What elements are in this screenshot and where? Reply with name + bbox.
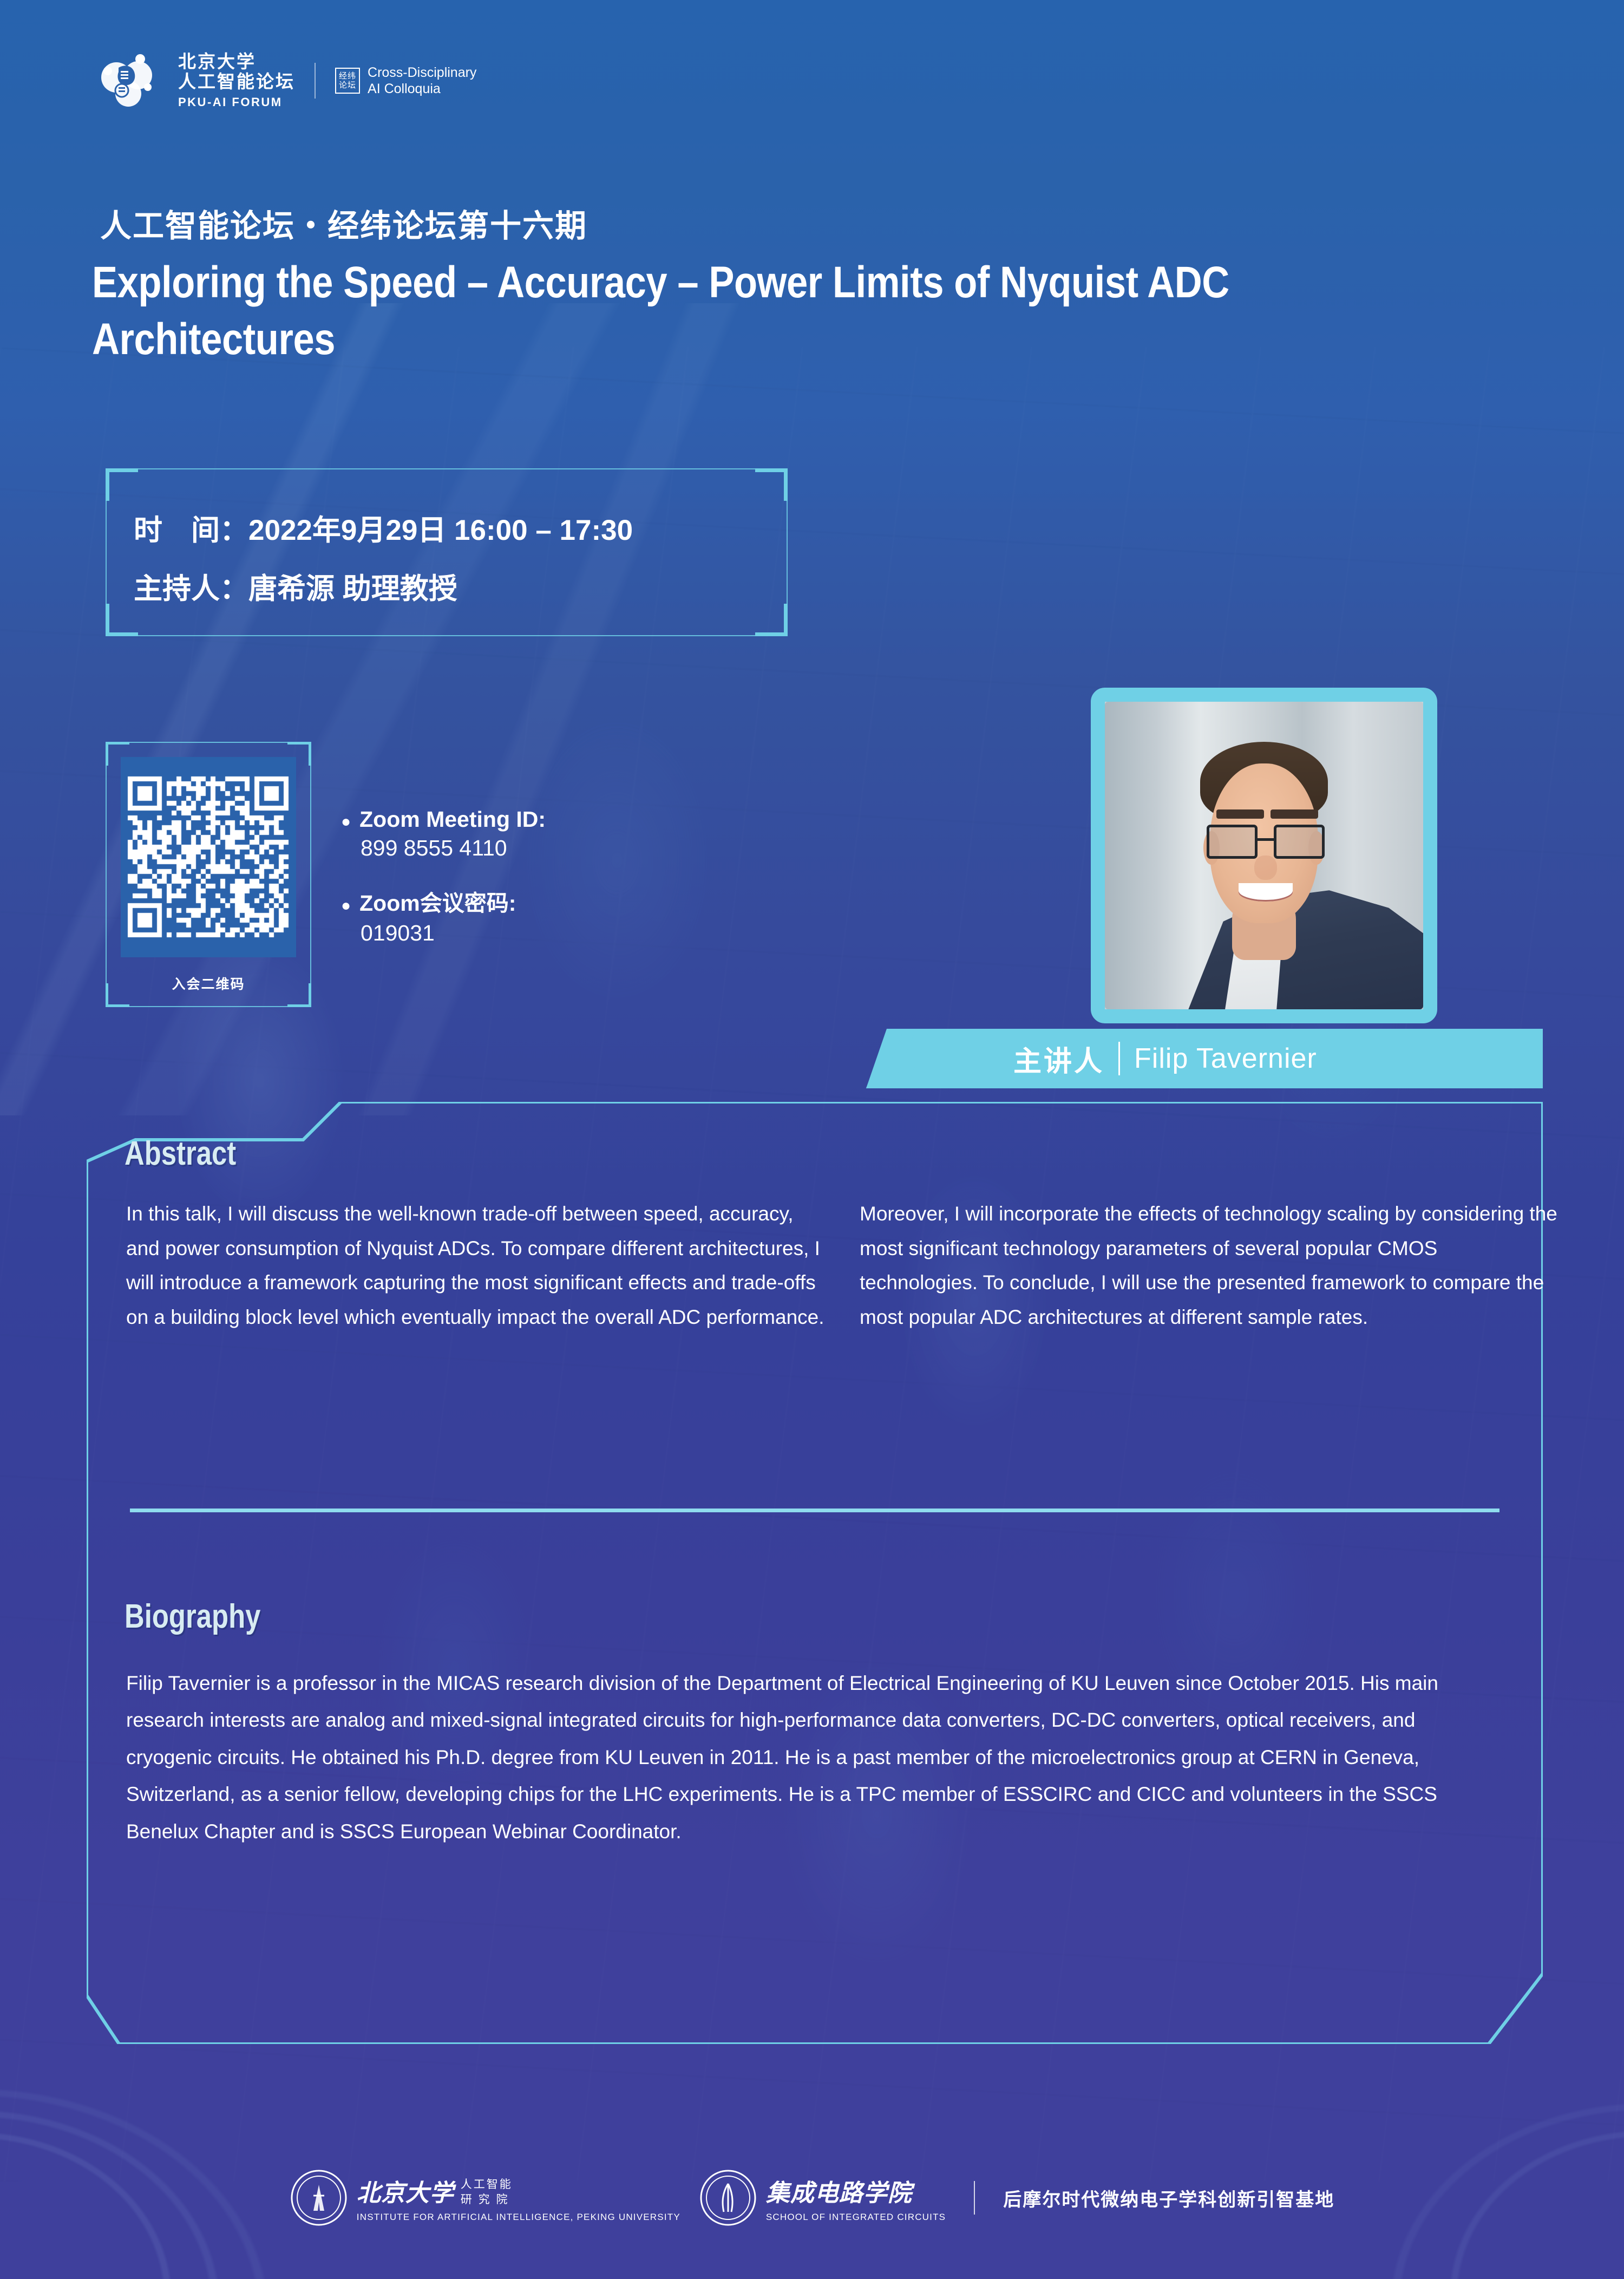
event-time-label: 时 间： bbox=[134, 514, 248, 546]
colloquia-en-line2: AI Colloquia bbox=[368, 81, 476, 97]
footer-org1-cn: 北京大学 bbox=[357, 2173, 454, 2208]
zoom-meeting-id-value: 899 8555 4110 bbox=[361, 835, 828, 861]
event-host-label: 主持人： bbox=[134, 573, 248, 605]
colloquia-cn-box: 经纬 论坛 bbox=[335, 68, 360, 94]
zoom-meeting-id-head: ● Zoom Meeting ID: bbox=[341, 807, 828, 832]
speaker-banner-divider bbox=[1118, 1042, 1120, 1075]
corner-bracket-bottom-left bbox=[106, 604, 138, 636]
speaker-portrait bbox=[1091, 688, 1437, 1023]
footer-logo-group: 北京大学 人工智能 研 究 院 INSTITUTE FOR ARTIFICIAL… bbox=[0, 2169, 1624, 2227]
zoom-passcode-item: ● Zoom会议密码: 019031 bbox=[341, 885, 828, 946]
bullet-icon: ● bbox=[341, 898, 351, 914]
colloquia-logo: 经纬 论坛 Cross-Disciplinary AI Colloquia bbox=[335, 64, 476, 97]
eyeglasses-icon bbox=[1207, 825, 1325, 858]
speaker-name: Filip Tavernier bbox=[1134, 1042, 1317, 1075]
speaker-name-banner: 主讲人 Filip Tavernier bbox=[866, 1029, 1543, 1088]
qr-code-icon[interactable] bbox=[121, 757, 296, 957]
corner-bracket-top-left bbox=[106, 468, 138, 501]
zoom-meeting-id-item: ● Zoom Meeting ID: 899 8555 4110 bbox=[341, 807, 828, 861]
corner-bracket-bottom-right bbox=[755, 604, 788, 636]
header-logo-group: 北京大学 人工智能论坛 PKU-AI FORUM 经纬 论坛 Cross-Dis… bbox=[100, 51, 476, 110]
info-box-edge-bottom bbox=[138, 635, 755, 636]
corner-bracket-top-right bbox=[755, 468, 788, 501]
pku-ai-forum-wordmark: 北京大学 人工智能论坛 PKU-AI FORUM bbox=[178, 52, 295, 109]
info-box-edge-left bbox=[106, 501, 107, 604]
org-cn-line2: 人工智能论坛 bbox=[178, 72, 295, 92]
peking-university-seal-icon bbox=[290, 2169, 348, 2227]
footer-org2-cn: 集成电路学院 bbox=[766, 2173, 946, 2208]
footer-divider bbox=[974, 2181, 975, 2215]
colloquia-cn-line1: 经纬 bbox=[339, 71, 356, 81]
speaker-role-label: 主讲人 bbox=[1013, 1039, 1104, 1079]
colloquia-en: Cross-Disciplinary AI Colloquia bbox=[368, 64, 476, 97]
zoom-meeting-info: ● Zoom Meeting ID: 899 8555 4110 ● Zoom会… bbox=[341, 807, 828, 970]
abstract-heading: Abstract bbox=[125, 1134, 236, 1173]
footer-org-2: 集成电路学院 SCHOOL OF INTEGRATED CIRCUITS bbox=[699, 2169, 946, 2227]
abstract-column-1: In this talk, I will discuss the well-kn… bbox=[126, 1197, 827, 1335]
qr-code-block[interactable]: 入会二维码 bbox=[106, 742, 311, 1007]
footer-org1-cn-sub1: 人工智能 bbox=[461, 2177, 513, 2192]
logo-divider bbox=[315, 63, 316, 99]
footer-org-1: 北京大学 人工智能 研 究 院 INSTITUTE FOR ARTIFICIAL… bbox=[290, 2169, 680, 2227]
event-time-row: 时 间：2022年9月29日 16:00 – 17:30 bbox=[134, 507, 633, 548]
colloquia-en-line1: Cross-Disciplinary bbox=[368, 64, 476, 81]
section-divider bbox=[130, 1509, 1499, 1512]
abstract-column-2: Moreover, I will incorporate the effects… bbox=[860, 1197, 1561, 1335]
footer-org1-en: INSTITUTE FOR ARTIFICIAL INTELLIGENCE, P… bbox=[357, 2212, 680, 2223]
bullet-icon: ● bbox=[341, 814, 351, 830]
peking-university-seal-icon bbox=[699, 2169, 757, 2227]
footer-org2-en: SCHOOL OF INTEGRATED CIRCUITS bbox=[766, 2212, 946, 2223]
event-time-value: 2022年9月29日 16:00 – 17:30 bbox=[248, 514, 633, 546]
talk-title: Exploring the Speed – Accuracy – Power L… bbox=[92, 254, 1284, 368]
zoom-passcode-head: ● Zoom会议密码: bbox=[341, 885, 828, 917]
org-cn-line1: 北京大学 bbox=[178, 52, 295, 72]
zoom-passcode-label: Zoom会议密码: bbox=[359, 885, 516, 917]
pku-ai-forum-mark-icon bbox=[100, 51, 159, 110]
info-box-edge-right bbox=[787, 501, 788, 604]
colloquia-cn-line2: 论坛 bbox=[339, 81, 356, 90]
biography-heading: Biography bbox=[125, 1597, 260, 1636]
org-en: PKU-AI FORUM bbox=[178, 95, 295, 109]
event-host-row: 主持人：唐希源 助理教授 bbox=[134, 566, 457, 607]
info-box-edge-top bbox=[138, 468, 755, 469]
event-host-value: 唐希源 助理教授 bbox=[248, 573, 457, 605]
qr-caption: 入会二维码 bbox=[106, 974, 311, 993]
zoom-passcode-value: 019031 bbox=[361, 920, 828, 946]
event-info-box: 时 间：2022年9月29日 16:00 – 17:30 主持人：唐希源 助理教… bbox=[106, 468, 788, 636]
footer-org3-cn: 后摩尔时代微纳电子学科创新引智基地 bbox=[1003, 2185, 1334, 2211]
series-title: 人工智能论坛・经纬论坛第十六期 bbox=[100, 200, 587, 246]
zoom-meeting-id-label: Zoom Meeting ID: bbox=[359, 807, 546, 832]
biography-text: Filip Tavernier is a professor in the MI… bbox=[126, 1665, 1507, 1850]
footer-org1-cn-sub2: 研 究 院 bbox=[461, 2192, 513, 2208]
